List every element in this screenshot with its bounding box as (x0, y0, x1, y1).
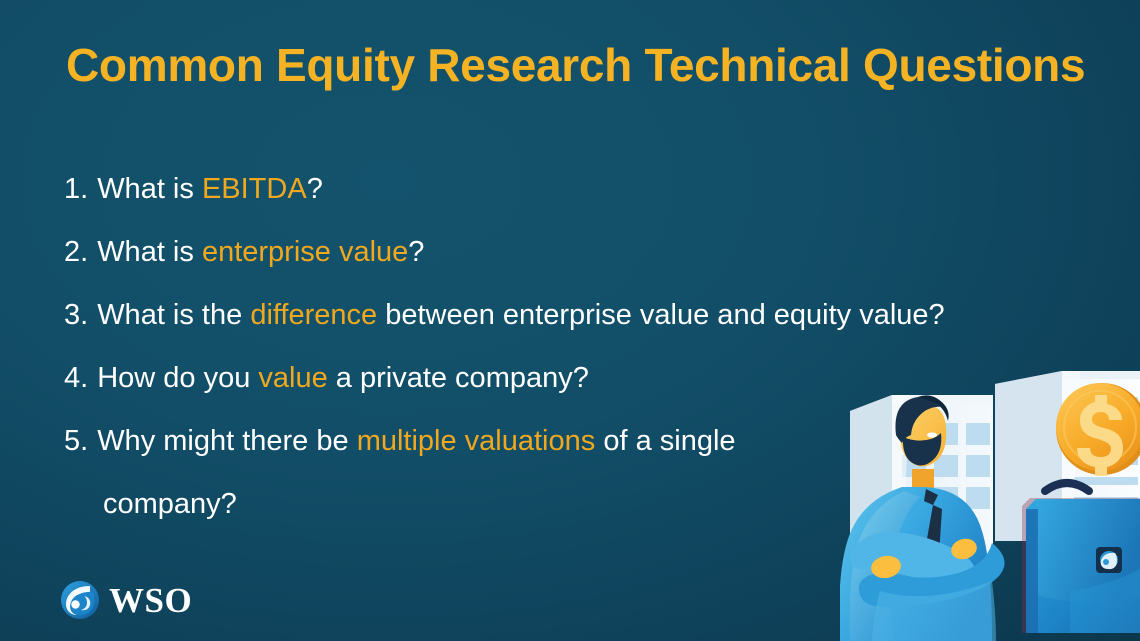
text-segment: ? (408, 236, 424, 268)
list-item: 2. What is enterprise value? (64, 221, 1074, 284)
text-segment: a private company? (328, 362, 589, 394)
list-item-text: How do you value a private company? (97, 347, 589, 410)
text-segment: What is (97, 173, 202, 205)
text-segment: of a single (595, 425, 735, 457)
list-item-continuation: company? (64, 473, 1074, 536)
list-item-number: 5. (64, 410, 88, 473)
highlighted-term: value (258, 362, 327, 394)
text-segment: Why might there be (97, 425, 357, 457)
list-item: 1. What is EBITDA? (64, 158, 1074, 221)
text-segment: ? (307, 173, 323, 205)
list-item-text: What is EBITDA? (97, 158, 323, 221)
questions-list: 1. What is EBITDA? 2. What is enterprise… (64, 158, 1074, 536)
list-item-number: 2. (64, 221, 88, 284)
highlighted-term: EBITDA (202, 173, 307, 205)
page-title: Common Equity Research Technical Questio… (66, 36, 1076, 94)
list-item: 3. What is the difference between enterp… (64, 284, 1074, 347)
wso-wordmark: WSO (109, 583, 192, 618)
list-item: 5. Why might there be multiple valuation… (64, 410, 1074, 473)
wso-logo[interactable]: WSO (60, 580, 192, 620)
list-item-text: Why might there be multiple valuations o… (97, 410, 735, 473)
highlighted-term: multiple valuations (357, 425, 596, 457)
text-segment: between enterprise value and equity valu… (377, 299, 945, 331)
list-item-number: 3. (64, 284, 88, 347)
wso-globe-icon (60, 580, 100, 620)
list-item-number: 4. (64, 347, 88, 410)
list-item: 4. How do you value a private company? (64, 347, 1074, 410)
text-segment: What is (97, 236, 202, 268)
highlighted-term: enterprise value (202, 236, 408, 268)
list-item-number: 1. (64, 158, 88, 221)
text-segment: What is the (97, 299, 250, 331)
list-item-text: What is enterprise value? (97, 221, 424, 284)
list-item-text: What is the difference between enterpris… (97, 284, 944, 347)
text-segment: How do you (97, 362, 258, 394)
highlighted-term: difference (250, 299, 377, 331)
slide-canvas: Common Equity Research Technical Questio… (0, 0, 1140, 641)
